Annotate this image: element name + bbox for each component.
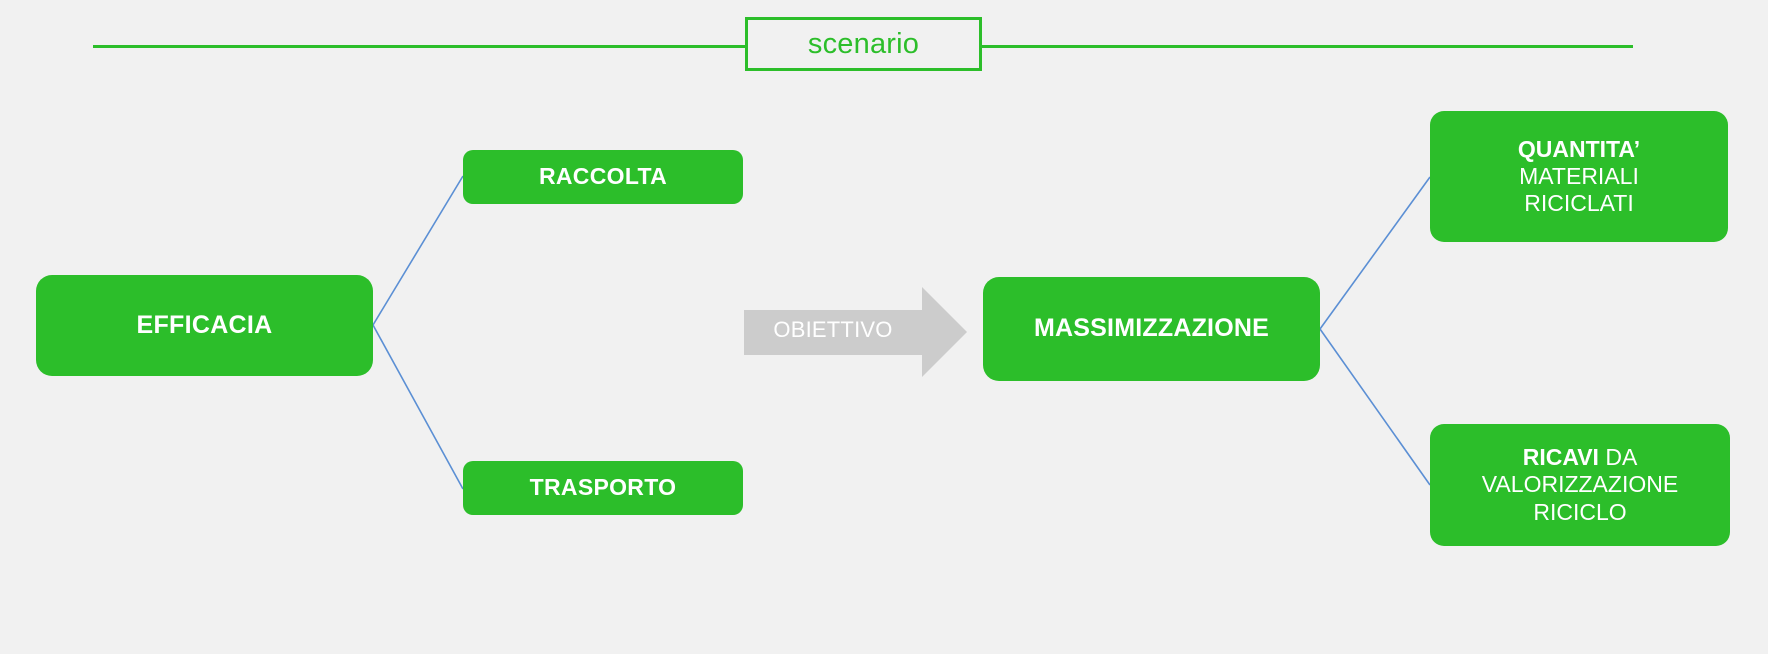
node-trasporto[interactable]: TRASPORTO	[463, 461, 743, 515]
node-raccolta-label: RACCOLTA	[473, 163, 733, 190]
node-ricavi-line1-rest: DA	[1599, 444, 1637, 470]
node-massimizzazione-label: MASSIMIZZAZIONE	[993, 314, 1310, 344]
node-quantita-line1: QUANTITA’	[1518, 136, 1640, 162]
connector-massimizzazione-ricavi	[1320, 329, 1430, 485]
node-quantita-line3: RICICLATI	[1524, 190, 1633, 216]
connector-massimizzazione-quantita	[1320, 177, 1430, 329]
arrow-right-icon	[744, 285, 969, 379]
connector-efficacia-raccolta	[373, 176, 463, 325]
node-efficacia-label: EFFICACIA	[46, 311, 363, 341]
node-quantita-materiali-riciclati[interactable]: QUANTITA’ MATERIALI RICICLATI	[1430, 111, 1728, 242]
node-quantita-text: QUANTITA’ MATERIALI RICICLATI	[1440, 136, 1718, 217]
node-efficacia[interactable]: EFFICACIA	[36, 275, 373, 376]
node-raccolta[interactable]: RACCOLTA	[463, 150, 743, 204]
node-trasporto-label: TRASPORTO	[473, 474, 733, 501]
obiettivo-arrow: OBIETTIVO	[744, 285, 969, 379]
connector-efficacia-trasporto	[373, 325, 463, 489]
node-ricavi-line3: RICICLO	[1533, 499, 1626, 525]
banner-rule-left	[93, 45, 747, 48]
banner-title-box: scenario	[745, 17, 982, 71]
node-ricavi-line2: VALORIZZAZIONE	[1482, 471, 1678, 497]
node-ricavi-valorizzazione-riciclo[interactable]: RICAVI DA VALORIZZAZIONE RICICLO	[1430, 424, 1730, 546]
banner-rule-right	[982, 45, 1633, 48]
node-massimizzazione[interactable]: MASSIMIZZAZIONE	[983, 277, 1320, 381]
node-ricavi-text: RICAVI DA VALORIZZAZIONE RICICLO	[1440, 444, 1720, 525]
diagram-canvas: scenario EFFICACIA RACCOLTA TRASPORTO MA…	[0, 0, 1768, 654]
node-quantita-line2: MATERIALI	[1519, 163, 1639, 189]
node-ricavi-line1-bold: RICAVI	[1523, 444, 1599, 470]
banner-title-label: scenario	[808, 30, 919, 59]
